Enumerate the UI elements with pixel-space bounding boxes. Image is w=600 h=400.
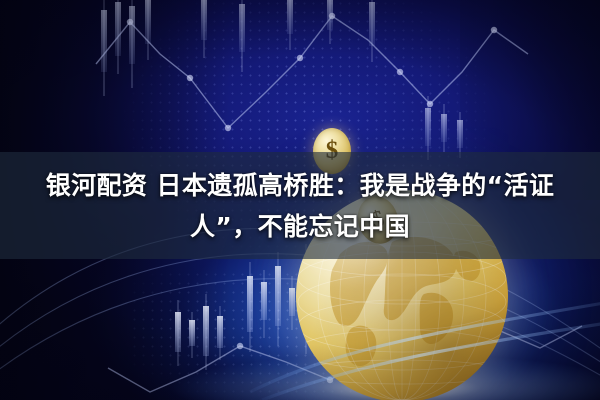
title-overlay-band: 银河配资 日本遗孤高桥胜：我是战争的“活证人”，不能忘记中国 <box>0 152 600 259</box>
thumbnail-image: $ <box>0 0 600 400</box>
page-title: 银河配资 日本遗孤高桥胜：我是战争的“活证人”，不能忘记中国 <box>15 165 585 247</box>
glow-arc-group <box>250 302 600 400</box>
arc-glow-arc-1 <box>250 302 600 392</box>
